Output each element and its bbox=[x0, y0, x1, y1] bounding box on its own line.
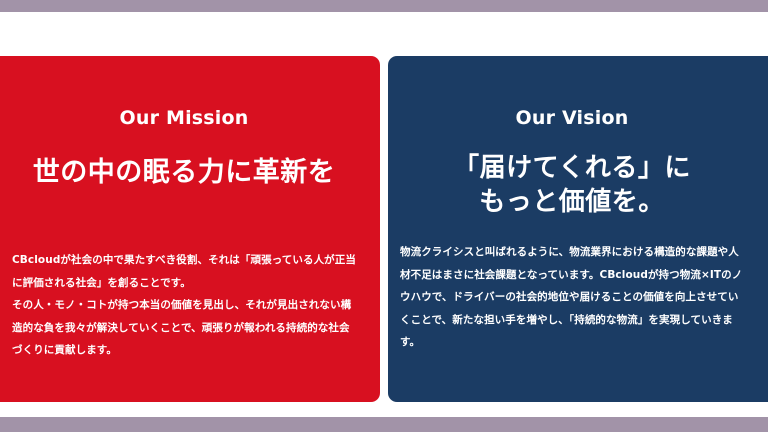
vision-panel: Our Vision 「届けてくれる」に もっと価値を。 物流クライシスと叫ばれ… bbox=[388, 56, 768, 402]
vision-panel-content: Our Vision 「届けてくれる」に もっと価値を。 物流クライシスと叫ばれ… bbox=[388, 56, 756, 402]
slide-canvas: Our Mission 世の中の眠る力に革新を CBcloudが社会の中で果たす… bbox=[0, 12, 768, 417]
mission-body-block: CBcloudが社会の中で果たすべき役割、それは「頑張っている人が正当に評価され… bbox=[12, 249, 356, 362]
vision-statement: 「届けてくれる」に もっと価値を。 bbox=[400, 129, 744, 220]
mission-paragraph-2: その人・モノ・コトが持つ本当の価値を見出し、それが見出されない構造的な負を我々が… bbox=[12, 294, 356, 362]
mission-statement: 世の中の眠る力に革新を bbox=[12, 129, 356, 191]
vision-paragraph-1: 物流クライシスと叫ばれるように、物流業界における構造的な課題や人材不足はまさに社… bbox=[400, 241, 744, 354]
bottom-chrome-bar bbox=[0, 417, 768, 432]
mission-paragraph-1: CBcloudが社会の中で果たすべき役割、それは「頑張っている人が正当に評価され… bbox=[12, 249, 356, 294]
vision-body-block: 物流クライシスと叫ばれるように、物流業界における構造的な課題や人材不足はまさに社… bbox=[400, 241, 744, 354]
mission-panel-content: Our Mission 世の中の眠る力に革新を CBcloudが社会の中で果たす… bbox=[0, 56, 368, 402]
mission-panel: Our Mission 世の中の眠る力に革新を CBcloudが社会の中で果たす… bbox=[0, 56, 380, 402]
mission-eyebrow-heading: Our Mission bbox=[12, 56, 356, 129]
top-chrome-bar bbox=[0, 0, 768, 12]
vision-eyebrow-heading: Our Vision bbox=[400, 56, 744, 129]
